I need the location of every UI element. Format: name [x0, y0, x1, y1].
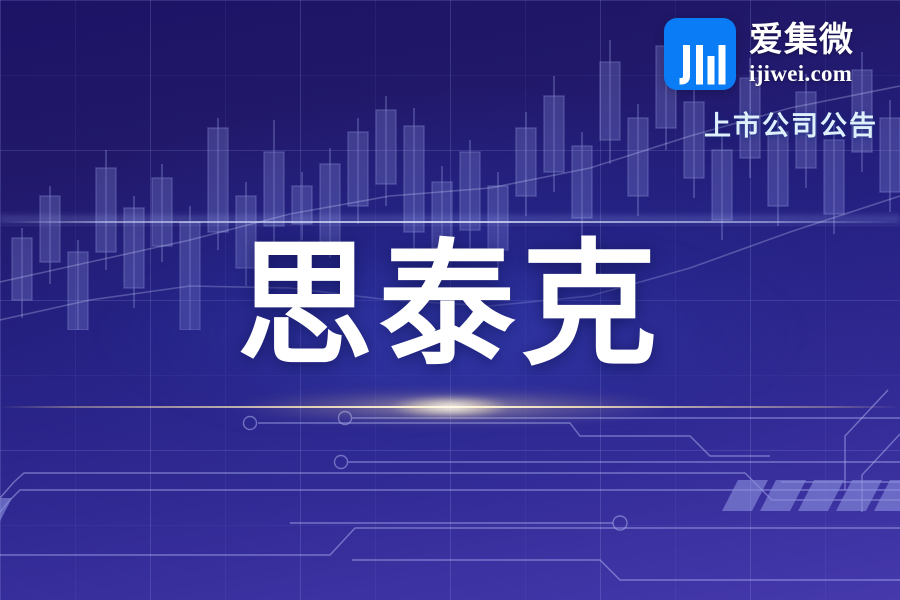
brand-domain: ijiwei.com — [749, 62, 854, 85]
company-name-title: 思泰克 — [237, 238, 663, 374]
brand-name-cn: 爱集微 — [749, 23, 854, 57]
brand-logo-block[interactable]: 爱集微 ijiwei.com 上市公司公告 — [664, 18, 878, 143]
brand-logo-row: 爱集微 ijiwei.com — [664, 18, 878, 90]
ijiwei-bars-logo-icon — [664, 18, 736, 90]
announcement-banner: 爱集微 ijiwei.com 上市公司公告 思泰克 — [0, 0, 900, 600]
page-title: 思泰克 — [0, 238, 900, 374]
brand-wordmark: 爱集微 ijiwei.com — [749, 23, 854, 85]
light-streak-core — [375, 393, 525, 421]
horizontal-divider — [0, 221, 900, 223]
divider-glow — [0, 212, 900, 226]
banner-subtitle: 上市公司公告 — [664, 104, 878, 143]
